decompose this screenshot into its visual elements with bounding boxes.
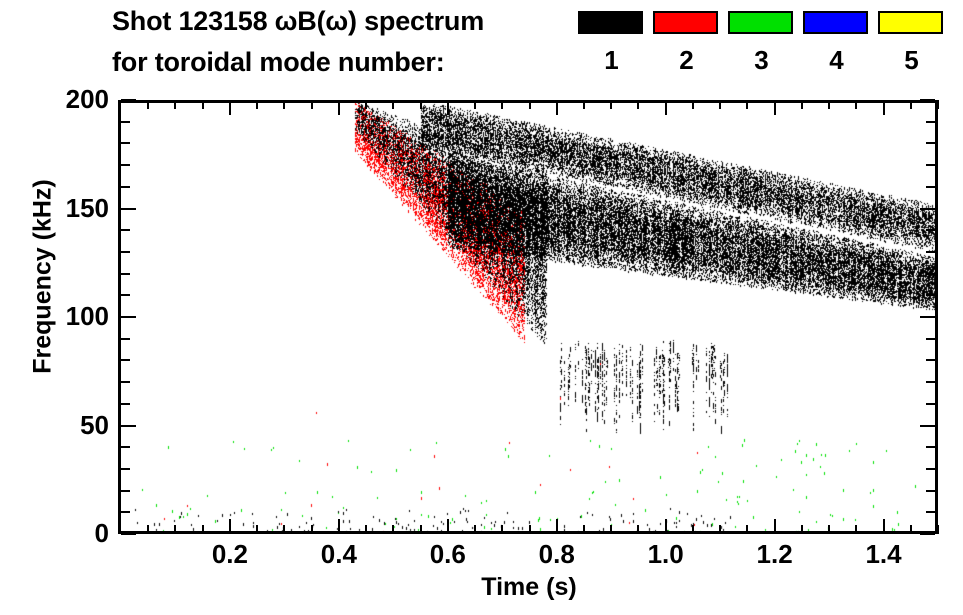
x-tick-major-0.4 <box>338 519 340 534</box>
x-tick-minor-1.5 <box>937 525 939 534</box>
y-tick-minor-180 <box>121 142 130 144</box>
legend-label-2: 2 <box>653 47 720 73</box>
legend-item-1[interactable]: 1 <box>578 11 645 73</box>
legend-item-2[interactable]: 2 <box>653 11 720 73</box>
x-tick-major-1.4 <box>883 519 885 534</box>
legend-swatch-icon-1 <box>578 11 643 34</box>
x-tick-major-0.8 <box>556 519 558 534</box>
x-tick-top-0.5 <box>392 100 394 109</box>
y-tick-minor-40 <box>121 446 130 448</box>
page-title-text: Shot 123158 ωB(ω) spectrum <box>112 6 484 36</box>
x-tick-top-0.75 <box>529 100 531 109</box>
x-tick-minor-0.9 <box>610 525 612 534</box>
y-tick-minor-140 <box>121 229 130 231</box>
x-tick-top-0.4 <box>338 100 340 115</box>
y-tick-right-150 <box>920 208 935 210</box>
y-tick-right-60 <box>926 403 935 405</box>
legend-label-4: 4 <box>803 47 870 73</box>
axis-right-spine <box>935 100 938 534</box>
y-tick-right-30 <box>926 468 935 470</box>
x-tick-top-0.55 <box>420 100 422 109</box>
x-tick-minor-1.45 <box>910 525 912 534</box>
x-tick-top-1.35 <box>855 100 857 109</box>
y-tick-right-100 <box>920 316 935 318</box>
x-tick-minor-0.5 <box>392 525 394 534</box>
x-tick-top-0.45 <box>365 100 367 109</box>
y-tick-right-140 <box>926 229 935 231</box>
y-tick-right-110 <box>926 294 935 296</box>
spectrogram-canvas <box>121 100 938 534</box>
page-subtitle-text: for toroidal mode number: <box>112 47 445 77</box>
y-tick-minor-10 <box>121 511 130 513</box>
x-tick-major-0.2 <box>229 519 231 534</box>
x-tick-label-0.6: 0.6 <box>393 541 503 567</box>
y-tick-label-50: 50 <box>0 412 109 438</box>
y-tick-major-200 <box>121 99 136 101</box>
x-tick-top-0.1 <box>174 100 176 109</box>
x-tick-top-0.3 <box>283 100 285 109</box>
x-tick-minor-1.1 <box>719 525 721 534</box>
x-tick-minor-0.1 <box>174 525 176 534</box>
y-tick-right-90 <box>926 338 935 340</box>
x-tick-top-1.25 <box>801 100 803 109</box>
x-tick-label-0.8: 0.8 <box>502 541 612 567</box>
y-tick-label-200: 200 <box>0 86 109 112</box>
y-tick-minor-160 <box>121 186 130 188</box>
x-tick-top-1.45 <box>910 100 912 109</box>
y-tick-minor-130 <box>121 251 130 253</box>
y-tick-right-70 <box>926 381 935 383</box>
y-tick-minor-190 <box>121 121 130 123</box>
y-tick-minor-70 <box>121 381 130 383</box>
x-tick-top-1.3 <box>828 100 830 109</box>
x-tick-major-0.6 <box>447 519 449 534</box>
x-tick-minor-0.65 <box>474 525 476 534</box>
x-tick-top-0.2 <box>229 100 231 115</box>
y-tick-right-20 <box>926 490 935 492</box>
x-tick-minor-0.25 <box>256 525 258 534</box>
y-tick-minor-80 <box>121 359 130 361</box>
page-title: Shot 123158 ωB(ω) spectrum <box>112 6 484 37</box>
y-tick-label-150: 150 <box>0 195 109 221</box>
x-tick-minor-1.05 <box>692 525 694 534</box>
x-tick-minor-0.45 <box>365 525 367 534</box>
x-tick-minor-0.3 <box>283 525 285 534</box>
plot-area <box>121 100 938 534</box>
x-tick-minor-1.15 <box>746 525 748 534</box>
legend-item-5[interactable]: 5 <box>878 11 945 73</box>
y-tick-right-10 <box>926 511 935 513</box>
x-tick-top-0.05 <box>147 100 149 109</box>
x-tick-label-1.2: 1.2 <box>720 541 830 567</box>
y-tick-minor-90 <box>121 338 130 340</box>
x-tick-minor-0.7 <box>501 525 503 534</box>
x-tick-top-0.95 <box>637 100 639 109</box>
spectrogram-figure: Shot 123158 ωB(ω) spectrum for toroidal … <box>0 0 963 615</box>
y-tick-major-50 <box>121 425 136 427</box>
legend-swatch-icon-4 <box>803 11 868 34</box>
x-tick-top-1 <box>665 100 667 115</box>
x-tick-top-1.15 <box>746 100 748 109</box>
legend-swatch-icon-3 <box>728 11 793 34</box>
x-tick-top-1.05 <box>692 100 694 109</box>
y-tick-right-40 <box>926 446 935 448</box>
x-tick-minor-1.25 <box>801 525 803 534</box>
legend-item-3[interactable]: 3 <box>728 11 795 73</box>
x-tick-top-1.4 <box>883 100 885 115</box>
x-tick-label-0.2: 0.2 <box>175 541 285 567</box>
x-tick-major-1 <box>665 519 667 534</box>
x-tick-top-0.6 <box>447 100 449 115</box>
x-tick-minor-0.85 <box>583 525 585 534</box>
y-tick-minor-20 <box>121 490 130 492</box>
x-tick-minor-1.35 <box>855 525 857 534</box>
x-tick-top-0.9 <box>610 100 612 109</box>
legend-swatch-icon-2 <box>653 11 718 34</box>
x-tick-top-0.15 <box>202 100 204 109</box>
page-subtitle: for toroidal mode number: <box>112 47 445 78</box>
x-axis-label: Time (s) <box>120 573 938 602</box>
x-tick-minor-0.55 <box>420 525 422 534</box>
y-tick-right-170 <box>926 164 935 166</box>
y-tick-major-0 <box>121 533 136 535</box>
x-tick-major-1.2 <box>774 519 776 534</box>
x-tick-label-1.0: 1.0 <box>611 541 721 567</box>
x-tick-top-1.5 <box>937 100 939 109</box>
x-tick-minor-0.75 <box>529 525 531 534</box>
x-tick-top-0.25 <box>256 100 258 109</box>
y-tick-right-190 <box>926 121 935 123</box>
y-tick-minor-30 <box>121 468 130 470</box>
y-tick-minor-120 <box>121 273 130 275</box>
y-tick-minor-110 <box>121 294 130 296</box>
x-tick-minor-0.05 <box>147 525 149 534</box>
x-tick-minor-0.95 <box>637 525 639 534</box>
y-tick-right-50 <box>920 425 935 427</box>
x-tick-minor-0.15 <box>202 525 204 534</box>
y-tick-label-0: 0 <box>0 520 109 546</box>
y-tick-minor-170 <box>121 164 130 166</box>
y-tick-right-130 <box>926 251 935 253</box>
legend: 12345 <box>578 11 958 86</box>
y-tick-major-150 <box>121 208 136 210</box>
x-tick-label-1.4: 1.4 <box>829 541 939 567</box>
y-tick-right-160 <box>926 186 935 188</box>
legend-label-3: 3 <box>728 47 795 73</box>
x-tick-top-1.1 <box>719 100 721 109</box>
y-tick-right-80 <box>926 359 935 361</box>
x-tick-top-0.85 <box>583 100 585 109</box>
x-tick-top-0.7 <box>501 100 503 109</box>
y-tick-right-200 <box>920 99 935 101</box>
x-tick-minor-0.35 <box>311 525 313 534</box>
x-tick-top-0.65 <box>474 100 476 109</box>
y-tick-right-0 <box>920 533 935 535</box>
y-tick-right-180 <box>926 142 935 144</box>
x-tick-minor-1.3 <box>828 525 830 534</box>
legend-label-5: 5 <box>878 47 945 73</box>
y-tick-major-100 <box>121 316 136 318</box>
x-tick-top-1.2 <box>774 100 776 115</box>
x-tick-label-0.4: 0.4 <box>284 541 394 567</box>
y-tick-label-100: 100 <box>0 303 109 329</box>
legend-swatch-icon-5 <box>878 11 943 34</box>
legend-label-1: 1 <box>578 47 645 73</box>
y-tick-minor-60 <box>121 403 130 405</box>
legend-item-4[interactable]: 4 <box>803 11 870 73</box>
y-tick-right-120 <box>926 273 935 275</box>
x-tick-top-0.35 <box>311 100 313 109</box>
x-tick-top-0.8 <box>556 100 558 115</box>
